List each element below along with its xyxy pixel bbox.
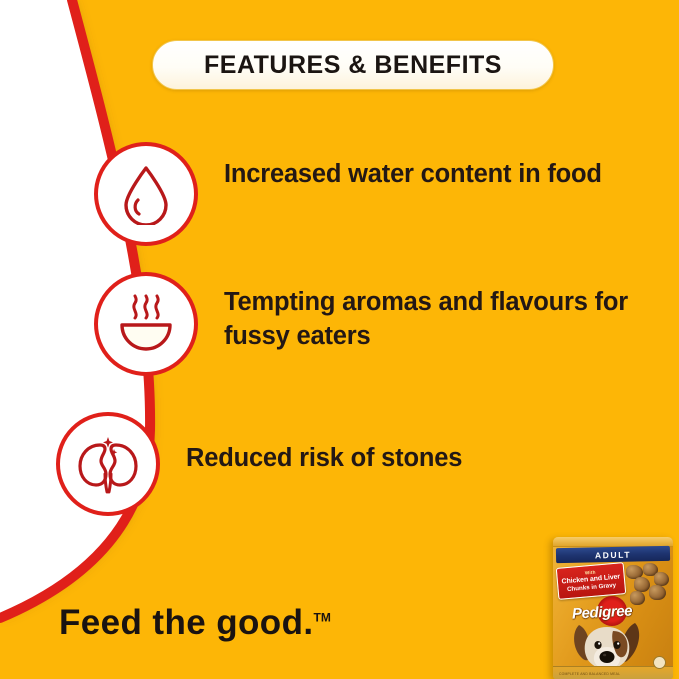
features-benefits-header: FEATURES & BENEFITS <box>152 40 554 90</box>
feature-item-aroma: Tempting aromas and flavours for fussy e… <box>94 272 644 376</box>
feature-label: Tempting aromas and flavours for fussy e… <box>224 286 644 353</box>
tagline-text: Feed the good. <box>59 603 313 642</box>
pack-body: ADULT With Chicken and Liver Chunks in G… <box>553 537 673 679</box>
pack-weight-badge <box>653 656 666 669</box>
product-pack-image: ADULT With Chicken and Liver Chunks in G… <box>553 537 673 679</box>
dog-photo <box>569 619 645 669</box>
feature-item-stones: Reduced risk of stones <box>56 412 462 516</box>
feature-label: Increased water content in food <box>224 158 602 192</box>
water-drop-icon <box>94 142 198 246</box>
feature-item-water-content: Increased water content in food <box>94 142 602 246</box>
pack-fineprint: COMPLETE AND BALANCED MEAL <box>559 672 620 676</box>
trademark-symbol: TM <box>313 610 330 624</box>
feature-label: Reduced risk of stones <box>186 442 462 476</box>
pack-lifestage-label: ADULT <box>595 549 631 560</box>
steaming-bowl-icon <box>94 272 198 376</box>
promo-banner: FEATURES & BENEFITS Increased water cont… <box>0 0 679 679</box>
kidneys-icon <box>56 412 160 516</box>
brand-tagline: Feed the good.TM <box>59 603 331 643</box>
page-title: FEATURES & BENEFITS <box>204 51 502 80</box>
pack-flavour-label: With Chicken and Liver Chunks in Gravy <box>556 562 627 600</box>
pack-lifestage-banner: ADULT <box>556 546 670 563</box>
